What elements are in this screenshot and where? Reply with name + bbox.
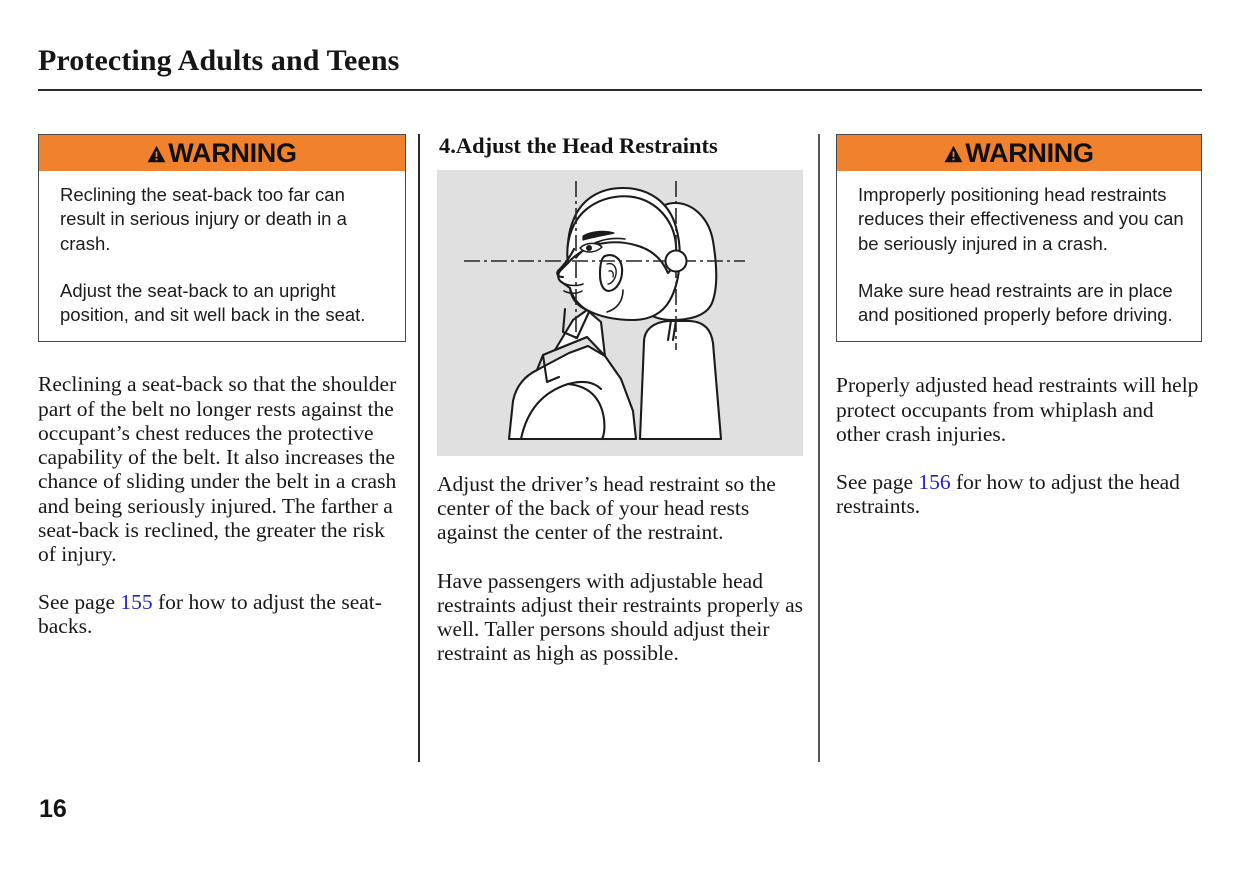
page-title: Protecting Adults and Teens bbox=[38, 44, 399, 78]
body-paragraph: Properly adjusted head restraints will h… bbox=[836, 373, 1202, 446]
warning-body: Reclining the seat-back too far can resu… bbox=[39, 171, 405, 341]
middle-column: 4.Adjust the Head Restraints bbox=[437, 134, 803, 665]
right-column: WARNING Improperly positioning head rest… bbox=[836, 134, 1202, 519]
warning-paragraph: Make sure head restraints are in place a… bbox=[858, 279, 1184, 328]
see-page-prefix: See page bbox=[38, 590, 120, 614]
warning-paragraph: Adjust the seat-back to an upright posit… bbox=[60, 279, 388, 328]
warning-paragraph: Improperly positioning head restraints r… bbox=[858, 183, 1184, 256]
warning-header: WARNING bbox=[39, 135, 405, 171]
restraint-center-marker bbox=[666, 251, 687, 272]
warning-paragraph: Reclining the seat-back too far can resu… bbox=[60, 183, 388, 256]
body-paragraph-see-page: See page 155 for how to adjust the seat-… bbox=[38, 590, 406, 638]
left-column-body: Reclining a seat-back so that the should… bbox=[38, 372, 406, 638]
page-number: 16 bbox=[39, 795, 67, 824]
warning-triangle-icon bbox=[944, 145, 963, 163]
body-paragraph: Reclining a seat-back so that the should… bbox=[38, 372, 406, 566]
right-column-body: Properly adjusted head restraints will h… bbox=[836, 373, 1202, 518]
column-divider-right bbox=[818, 134, 820, 762]
body-paragraph-see-page: See page 156 for how to adjust the head … bbox=[836, 470, 1202, 518]
warning-label: WARNING bbox=[965, 140, 1093, 167]
warning-box-head-restraint: WARNING Improperly positioning head rest… bbox=[836, 134, 1202, 342]
section-heading: 4.Adjust the Head Restraints bbox=[439, 134, 803, 158]
page-reference-link[interactable]: 156 bbox=[918, 470, 950, 494]
see-page-prefix: See page bbox=[836, 470, 918, 494]
warning-header: WARNING bbox=[837, 135, 1201, 171]
head-restraint-alignment-illustration bbox=[437, 170, 803, 456]
page-reference-link[interactable]: 155 bbox=[120, 590, 152, 614]
warning-box-seat-back: WARNING Reclining the seat-back too far … bbox=[38, 134, 406, 342]
warning-label: WARNING bbox=[168, 140, 296, 167]
middle-column-body: Adjust the driver’s head restraint so th… bbox=[437, 472, 803, 665]
warning-triangle-icon bbox=[147, 145, 166, 163]
left-column: WARNING Reclining the seat-back too far … bbox=[38, 134, 406, 639]
warning-body: Improperly positioning head restraints r… bbox=[837, 171, 1201, 341]
body-paragraph: Have passengers with adjustable head res… bbox=[437, 569, 803, 666]
column-divider-left bbox=[418, 134, 420, 762]
body-paragraph: Adjust the driver’s head restraint so th… bbox=[437, 472, 803, 545]
header-rule bbox=[38, 89, 1202, 91]
